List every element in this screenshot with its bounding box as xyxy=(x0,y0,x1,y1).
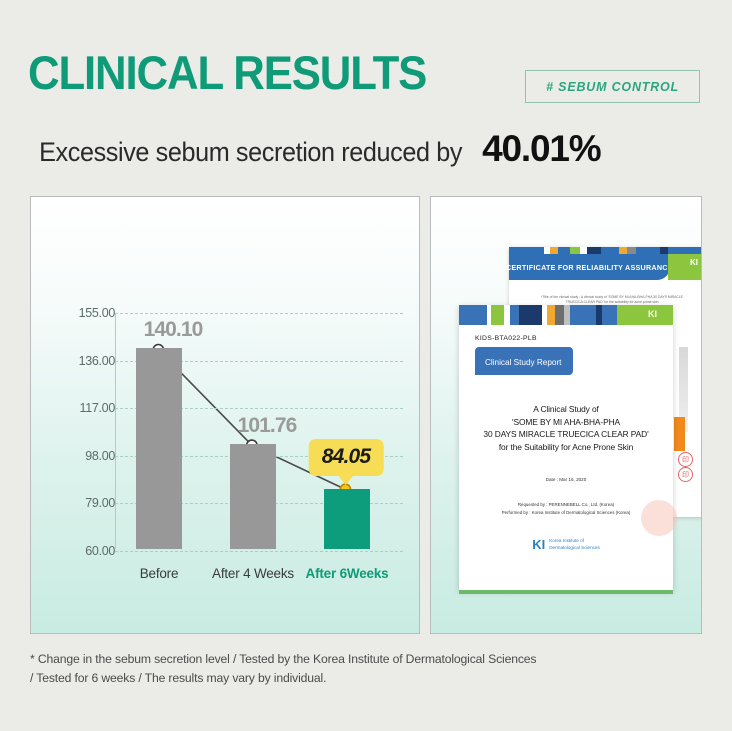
stripe-segment-0 xyxy=(509,247,544,254)
y-axis: 155.00136.00117.0098.0079.0060.00 xyxy=(53,197,115,633)
stripe-segment-7 xyxy=(547,305,556,325)
footnote-line-2: / Tested for 6 weeks / The results may v… xyxy=(30,669,536,688)
status-badge: # SEBUM CONTROL xyxy=(525,70,700,103)
y-axis-tick-label: 60.00 xyxy=(57,544,115,558)
red-stamp-icon-secondary: 印 xyxy=(678,467,693,482)
y-axis-tick-label: 136.00 xyxy=(57,354,115,368)
value-label-1: 101.76 xyxy=(238,414,297,438)
bar-chart: 155.00136.00117.0098.0079.0060.00 Before… xyxy=(31,197,419,633)
report-title-line: 'SOME BY MI AHA-BHA-PHA xyxy=(467,416,665,429)
footnote-line-1: * Change in the sebum secretion level / … xyxy=(30,650,536,669)
institute-logo-line: Dermatological Sciences xyxy=(549,545,600,552)
institute-logo-icon: KI xyxy=(532,537,545,552)
document-stack: CERTIFICATE FOR RELIABILITY ASSURANCE KI… xyxy=(431,197,701,633)
stripe-segment-4 xyxy=(570,247,580,254)
callout-tail-icon xyxy=(338,475,354,485)
certificate-logo-icon: KI xyxy=(690,258,698,267)
stripe-segment-5 xyxy=(519,305,543,325)
report-top-stripes xyxy=(459,305,673,325)
subtitle-highlight-value: 40.01% xyxy=(482,128,600,170)
y-axis-tick-label: 117.00 xyxy=(57,401,115,415)
page-title: CLINICAL RESULTS xyxy=(28,48,426,98)
report-footer-logo: KI Korea Institute ofDermatological Scie… xyxy=(459,537,673,552)
stripe-segment-2 xyxy=(550,247,558,254)
stripe-segment-5 xyxy=(580,247,588,254)
stripe-segment-3 xyxy=(558,247,570,254)
stripe-segment-12 xyxy=(602,305,617,325)
stripe-segment-9 xyxy=(627,247,637,254)
gridline xyxy=(115,551,403,552)
stripe-segment-8 xyxy=(555,305,564,325)
stripe-segment-10 xyxy=(636,247,660,254)
report-badge-label: Clinical Study Report xyxy=(485,358,561,367)
x-axis-label-1: After 4 Weeks xyxy=(212,566,294,581)
report-logo-icon: KI xyxy=(648,309,657,319)
report-code: KIDS-BTA022-PLB xyxy=(475,335,537,342)
y-axis-line xyxy=(115,313,116,549)
stripe-segment-8 xyxy=(619,247,627,254)
report-title-line: A Clinical Study of xyxy=(467,403,665,416)
stripe-segment-13 xyxy=(617,305,673,325)
gridline xyxy=(115,313,403,314)
chart-panel: 155.00136.00117.0098.0079.0060.00 Before… xyxy=(30,196,420,634)
stripe-segment-11 xyxy=(660,247,668,254)
certificate-title-band: CERTIFICATE FOR RELIABILITY ASSURANCE xyxy=(509,254,670,280)
certificate-subtitle-text: *Title of the clinical study : A clinica… xyxy=(535,295,689,305)
subtitle: Excessive sebum secretion reduced by 40.… xyxy=(28,128,600,170)
certificate-title-text: CERTIFICATE FOR RELIABILITY ASSURANCE xyxy=(506,263,673,272)
report-bottom-accent xyxy=(459,590,673,594)
stripe-segment-7 xyxy=(601,247,619,254)
y-axis-tick-label: 155.00 xyxy=(57,306,115,320)
report-title: A Clinical Study of'SOME BY MI AHA-BHA-P… xyxy=(467,403,665,453)
report-title-line: for the Suitability for Acne Prone Skin xyxy=(467,441,665,454)
footnote: * Change in the sebum secretion level / … xyxy=(30,650,536,688)
y-axis-tick-label: 79.00 xyxy=(57,496,115,510)
stripe-segment-6 xyxy=(587,247,601,254)
report-date: Date : Mar 16, 2020 xyxy=(459,477,673,482)
report-credit-line: Performed by : Korea Institute of Dermat… xyxy=(459,509,673,517)
value-callout-text: 84.05 xyxy=(322,445,371,468)
bar-2 xyxy=(324,489,370,549)
value-callout-bubble: 84.05 xyxy=(309,439,384,476)
subtitle-text: Excessive sebum secretion reduced by xyxy=(39,137,462,168)
report-badge: Clinical Study Report xyxy=(475,347,573,375)
report-title-line: 30 DAYS MIRACLE TRUECICA CLEAR PAD' xyxy=(467,428,665,441)
bar-1 xyxy=(230,444,276,549)
stripe-segment-10 xyxy=(570,305,596,325)
x-axis-label-2: After 6Weeks xyxy=(306,566,389,581)
stripe-segment-2 xyxy=(491,305,504,325)
report-credits: Requested by : PERENNEBELL Co., Ltd. (Ko… xyxy=(459,501,673,516)
stripe-segment-4 xyxy=(510,305,519,325)
document-orange-tab xyxy=(674,417,685,451)
header: CLINICAL RESULTS # SEBUM CONTROL xyxy=(28,48,710,106)
certificate-panel: CERTIFICATE FOR RELIABILITY ASSURANCE KI… xyxy=(430,196,702,634)
report-credit-line: Requested by : PERENNEBELL Co., Ltd. (Ko… xyxy=(459,501,673,509)
certificate-top-stripes xyxy=(509,247,702,254)
value-label-0: 140.10 xyxy=(144,318,203,342)
red-stamp-icon: 印 xyxy=(678,452,693,467)
status-badge-label: # SEBUM CONTROL xyxy=(546,80,679,94)
x-axis-label-0: Before xyxy=(140,566,179,581)
institute-logo-text: Korea Institute ofDermatological Science… xyxy=(549,538,600,551)
stripe-segment-12 xyxy=(668,247,702,254)
bar-0 xyxy=(136,348,182,549)
y-axis-tick-label: 98.00 xyxy=(57,449,115,463)
clinical-study-report-document: KI KIDS-BTA022-PLB Clinical Study Report… xyxy=(459,305,673,590)
stripe-segment-0 xyxy=(459,305,487,325)
